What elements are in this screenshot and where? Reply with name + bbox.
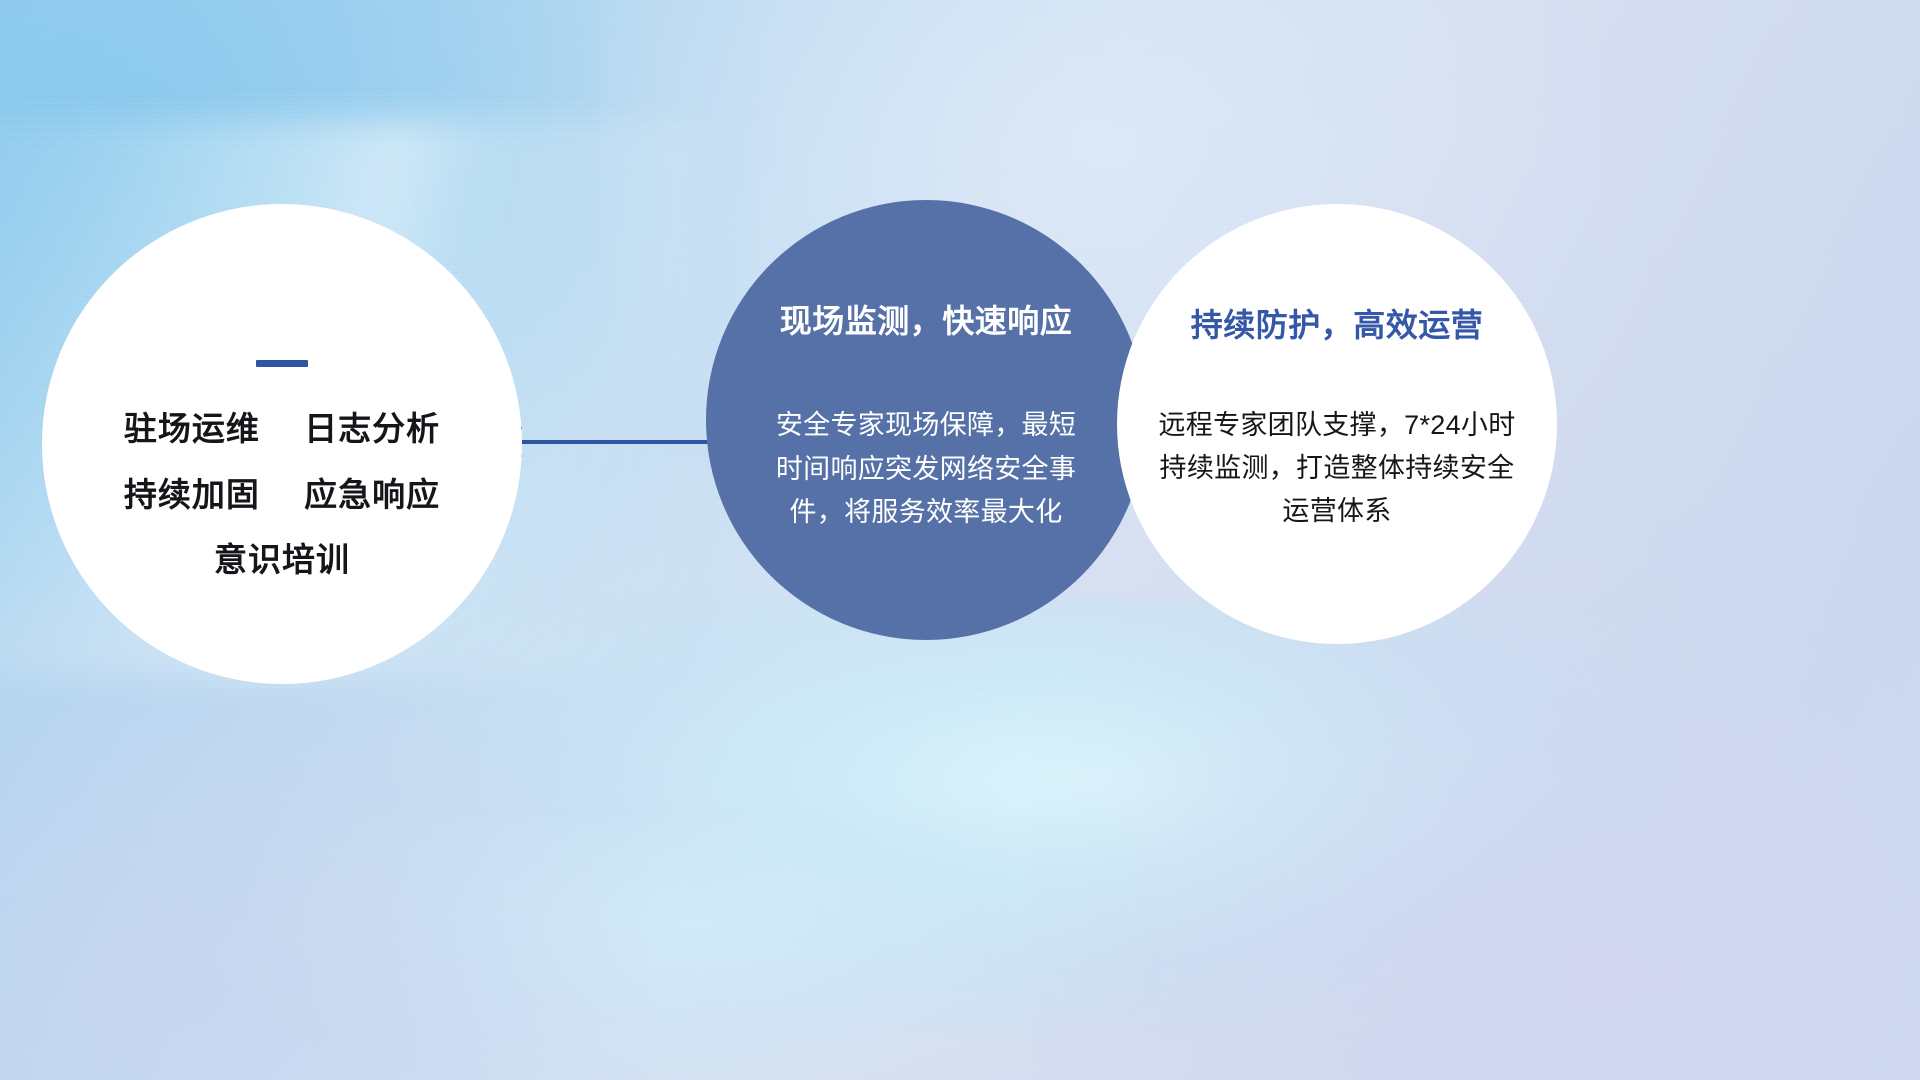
capability-label: 驻场运维 [124, 410, 260, 447]
capability-row-2: 持续加固 应急响应 [124, 475, 440, 515]
continuous-protection-description: 远程专家团队支撑，7*24小时持续监测，打造整体持续安全运营体系 [1157, 404, 1517, 534]
slide-canvas: 驻场运维 日志分析 持续加固 应急响应 意识培训 现场监测，快速响应 安全专家现… [0, 0, 1920, 1080]
capability-label: 日志分析 [304, 410, 440, 447]
continuous-protection-title: 持续防护，高效运营 [1191, 300, 1484, 346]
capability-circle-left: 驻场运维 日志分析 持续加固 应急响应 意识培训 [42, 204, 522, 684]
capability-row-1: 驻场运维 日志分析 [124, 409, 440, 449]
capability-label: 应急响应 [304, 476, 440, 513]
continuous-protection-circle: 持续防护，高效运营 远程专家团队支撑，7*24小时持续监测，打造整体持续安全运营… [1117, 204, 1557, 644]
onsite-monitoring-title: 现场监测，快速响应 [780, 296, 1073, 342]
onsite-monitoring-description: 安全专家现场保障，最短时间响应突发网络安全事件，将服务效率最大化 [766, 404, 1086, 535]
capability-label: 持续加固 [124, 476, 260, 513]
onsite-monitoring-circle: 现场监测，快速响应 安全专家现场保障，最短时间响应突发网络安全事件，将服务效率最… [706, 200, 1146, 640]
capability-row-3: 意识培训 [214, 540, 350, 580]
dash-divider-icon [256, 360, 308, 367]
capability-label: 意识培训 [214, 541, 350, 578]
